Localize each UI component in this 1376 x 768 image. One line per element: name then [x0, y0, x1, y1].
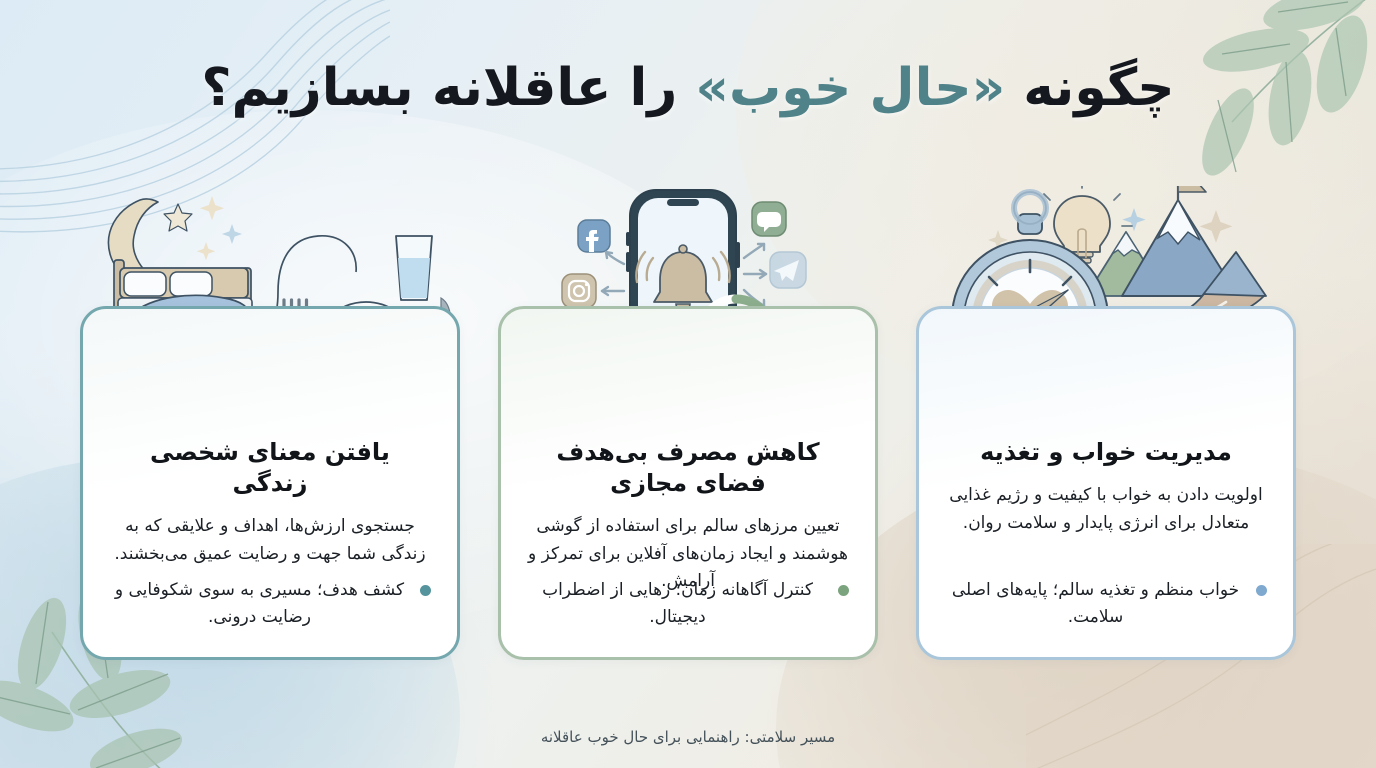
sparkle-icon — [197, 196, 224, 260]
bell-ring-waves — [636, 252, 729, 282]
card-body: اولویت دادن به خواب با کیفیت و رژیم غذای… — [945, 482, 1267, 537]
bell-icon — [636, 245, 729, 309]
mountain-icon — [1086, 186, 1266, 296]
infographic-poster: چگونه «حال خوب» را عاقلانه بسازیم؟ — [0, 0, 1376, 768]
bullet-dot-icon — [420, 585, 431, 596]
water-glass-icon — [396, 236, 432, 300]
bullet-dot-icon — [838, 585, 849, 596]
telegram-icon — [770, 252, 806, 288]
bullet-text: کشف هدف؛ مسیری به سوی شکوفایی و رضایت در… — [109, 577, 410, 631]
sparkle-blue-icon — [1122, 208, 1145, 231]
page-title: چگونه «حال خوب» را عاقلانه بسازیم؟ — [0, 56, 1376, 121]
sparkle-blue-icon — [222, 224, 242, 244]
card-bullet: کنترل آگاهانه زمان؛ رهایی از اضطراب دیجی… — [527, 577, 849, 631]
footer-caption: مسیر سلامتی: راهنمایی برای حال خوب عاقلا… — [0, 728, 1376, 746]
card-body: جستجوی ارزش‌ها، اهداف و علایقی که به زند… — [109, 513, 431, 568]
bulb-rays — [1032, 186, 1132, 226]
card-title: کاهش مصرف بی‌هدف فضای مجازی — [527, 437, 849, 499]
card-title: یافتن معنای شخصی زندگی — [109, 437, 431, 499]
lightbulb-icon — [1032, 186, 1132, 263]
card-life-meaning[interactable]: یافتن معنای شخصی زندگی جستجوی ارزش‌ها، ا… — [80, 306, 460, 660]
card-sleep-nutrition[interactable]: مدیریت خواب و تغذیه اولویت دادن به خواب … — [916, 306, 1296, 660]
bullet-text: خواب منظم و تغذیه سالم؛ پایه‌های اصلی سل… — [945, 577, 1246, 631]
star-icon — [164, 204, 192, 231]
headline-after: را عاقلانه بسازیم؟ — [201, 58, 695, 118]
headline-before: چگونه — [1005, 58, 1174, 118]
bullet-text: کنترل آگاهانه زمان؛ رهایی از اضطراب دیجی… — [527, 577, 828, 631]
flag-icon — [1178, 186, 1206, 200]
card-title: مدیریت خواب و تغذیه — [945, 437, 1267, 468]
card-bullet: کشف هدف؛ مسیری به سوی شکوفایی و رضایت در… — [109, 577, 431, 631]
headline-accent: «حال خوب» — [695, 58, 1005, 118]
cards-row: مدیریت خواب و تغذیه اولویت دادن به خواب … — [0, 306, 1376, 660]
instagram-icon — [562, 274, 596, 308]
card-bullet: خواب منظم و تغذیه سالم؛ پایه‌های اصلی سل… — [945, 577, 1267, 631]
facebook-icon — [578, 220, 610, 252]
crescent-moon-icon — [108, 199, 162, 284]
card-screen-time[interactable]: کاهش مصرف بی‌هدف فضای مجازی تعیین مرزهای… — [498, 306, 878, 660]
bullet-dot-icon — [1256, 585, 1267, 596]
chat-bubble-icon — [752, 202, 786, 236]
